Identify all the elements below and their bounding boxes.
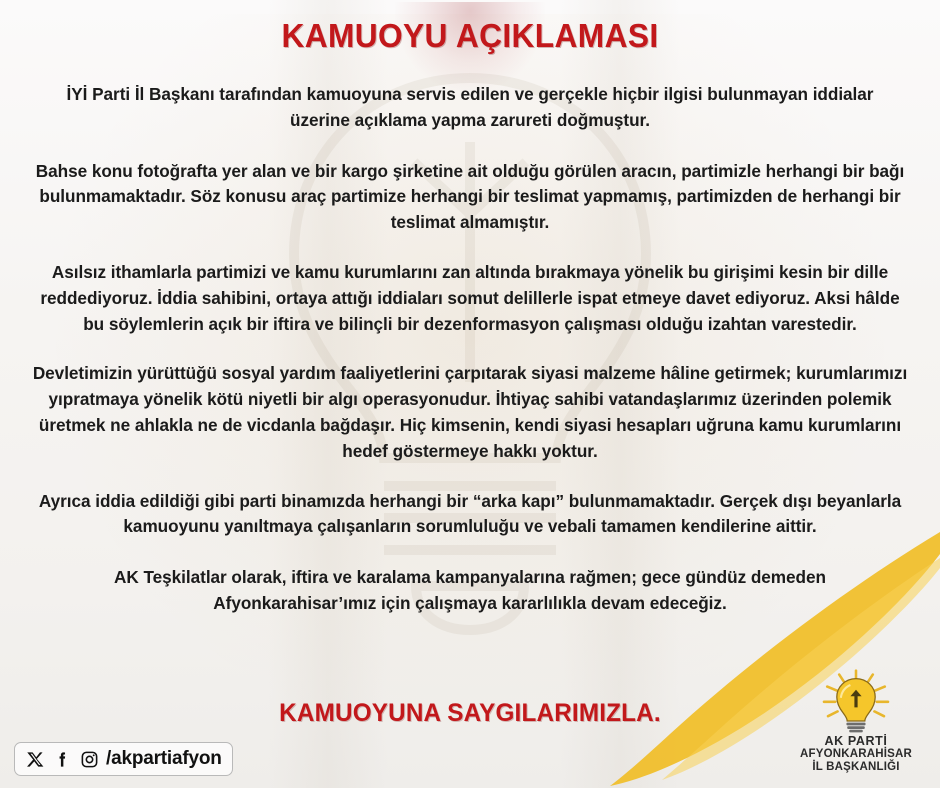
instagram-icon[interactable]: [78, 748, 100, 770]
lightbulb-icon: [820, 669, 892, 733]
social-handle-text: /akpartiafyon: [106, 748, 222, 770]
x-twitter-icon[interactable]: [24, 748, 46, 770]
ak-parti-logo: AK PARTİ AFYONKARAHİSAR İL BAŞKANLIĞI: [790, 669, 922, 774]
statement-paragraph: İYİ Parti İl Başkanı tarafından kamuoyun…: [44, 82, 896, 134]
statement-body: İYİ Parti İl Başkanı tarafından kamuoyun…: [26, 82, 914, 617]
logo-text-block: AK PARTİ AFYONKARAHİSAR İL BAŞKANLIĞI: [790, 734, 922, 774]
statement-paragraph: Bahse konu fotoğrafta yer alan ve bir ka…: [34, 159, 906, 236]
page-title: KAMUOYU AÇIKLAMASI: [19, 17, 921, 55]
social-media-badge[interactable]: /akpartiafyon: [14, 742, 233, 776]
logo-line-city: AFYONKARAHİSAR: [790, 748, 922, 761]
logo-line-branch: İL BAŞKANLIĞI: [790, 761, 922, 774]
public-statement-poster: KAMUOYU AÇIKLAMASI İYİ Parti İl Başkanı …: [0, 0, 940, 788]
statement-paragraph: Devletimizin yürüttüğü sosyal yardım faa…: [28, 361, 912, 464]
facebook-icon[interactable]: [51, 748, 73, 770]
statement-paragraph: Ayrıca iddia edildiği gibi parti binamız…: [26, 489, 914, 541]
statement-paragraph: Asılsız ithamlarla partimizi ve kamu kur…: [28, 260, 912, 337]
statement-paragraph: AK Teşkilatlar olarak, iftira ve karalam…: [40, 565, 900, 617]
logo-line-party: AK PARTİ: [790, 734, 922, 748]
